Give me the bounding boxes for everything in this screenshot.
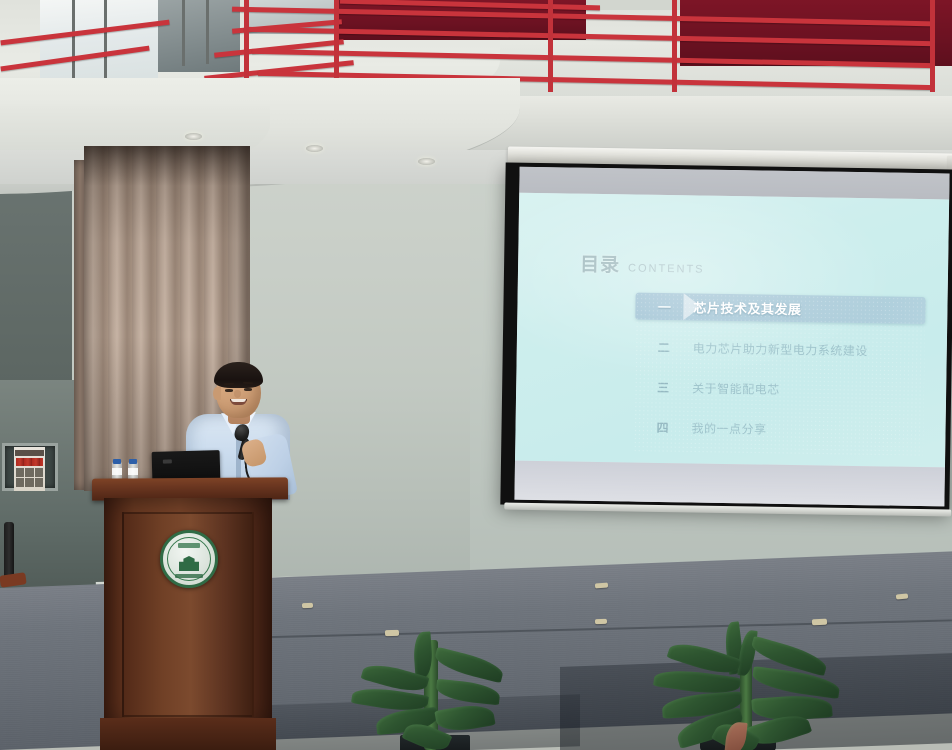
toc-item-2: 二 电力芯片助力新型电力系统建设: [635, 334, 925, 365]
ceiling-light-icon: [418, 158, 435, 165]
curtain-top-shadow: [84, 146, 250, 186]
bottle-label: [128, 468, 138, 475]
presenter-nose: [234, 390, 241, 398]
chevron-right-icon: [683, 293, 701, 320]
ceiling-light-icon: [306, 145, 323, 152]
toc-item-4-label: 我的一点分享: [691, 419, 766, 437]
floor-debris: [302, 603, 313, 609]
projection-screen-assembly: 目录 CONTENTS 一 芯片技术及其发展 二 电力芯片助力新型电力系统建: [500, 146, 952, 525]
toc-item-1: 一 芯片技术及其发展: [635, 293, 925, 325]
laptop-logo: [163, 459, 172, 463]
crest-bottom-text: [175, 574, 203, 578]
railing-post: [548, 0, 553, 92]
floor-debris: [595, 619, 607, 624]
floor-debris: [385, 630, 399, 636]
fire-hose: [4, 522, 14, 580]
railing-post: [672, 0, 677, 92]
presenter-ear: [213, 387, 221, 400]
presenter-teeth: [231, 399, 246, 402]
floor-debris: [595, 583, 608, 589]
railing-post: [930, 0, 935, 92]
university-crest-icon: [160, 530, 218, 588]
balcony-panel-red-2: [680, 0, 952, 66]
upper-window-dark: [158, 0, 240, 72]
slide-header: 目录 CONTENTS: [580, 250, 705, 279]
window-mullion: [72, 0, 75, 88]
toc-item-4-number: 四: [633, 418, 691, 436]
window-mullion: [182, 0, 185, 66]
bottle-cap: [129, 459, 137, 464]
poster-title-bar: [15, 450, 44, 456]
railing-post: [244, 0, 249, 86]
presenter-eye-left: [225, 389, 233, 392]
slide-letterbox-bottom: [514, 461, 945, 507]
poster-red-band: [16, 458, 43, 466]
projection-screen: 目录 CONTENTS 一 芯片技术及其发展 二 电力芯片助力新型电力系统建: [500, 162, 952, 511]
toc-item-2-label: 电力芯片助力新型电力系统建设: [693, 339, 868, 359]
screen-surface: 目录 CONTENTS 一 芯片技术及其发展 二 电力芯片助力新型电力系统建: [514, 167, 949, 507]
window-mullion: [104, 0, 107, 84]
slide-toc-list: 一 芯片技术及其发展 二 电力芯片助力新型电力系统建设 三 关于智能配电芯: [633, 293, 925, 459]
podium-base: [100, 718, 276, 750]
toc-item-3: 三 关于智能配电芯: [634, 374, 924, 405]
crest-top-text: [178, 543, 200, 548]
floor-debris: [812, 619, 827, 626]
window-mullion: [206, 0, 209, 64]
toc-item-4: 四 我的一点分享: [633, 414, 923, 445]
bottle-cap: [113, 459, 121, 464]
toc-item-2-number: 二: [635, 338, 693, 356]
slide-content: 目录 CONTENTS 一 芯片技术及其发展 二 电力芯片助力新型电力系统建: [515, 193, 949, 468]
toc-item-1-label: 芯片技术及其发展: [693, 297, 801, 318]
toc-item-3-label: 关于智能配电芯: [692, 379, 780, 397]
presenter-eye-right: [244, 388, 252, 391]
bottle-label: [112, 468, 122, 475]
ceiling-light-icon: [185, 133, 202, 140]
floor-debris: [896, 593, 908, 599]
toc-item-3-number: 三: [634, 378, 692, 396]
slide-header-en: CONTENTS: [628, 262, 705, 275]
poster-instruction-grid: [16, 468, 43, 487]
lecture-hall-photo: 目录 CONTENTS 一 芯片技术及其发展 二 电力芯片助力新型电力系统建: [0, 0, 952, 750]
slide-header-cn: 目录: [580, 250, 620, 278]
